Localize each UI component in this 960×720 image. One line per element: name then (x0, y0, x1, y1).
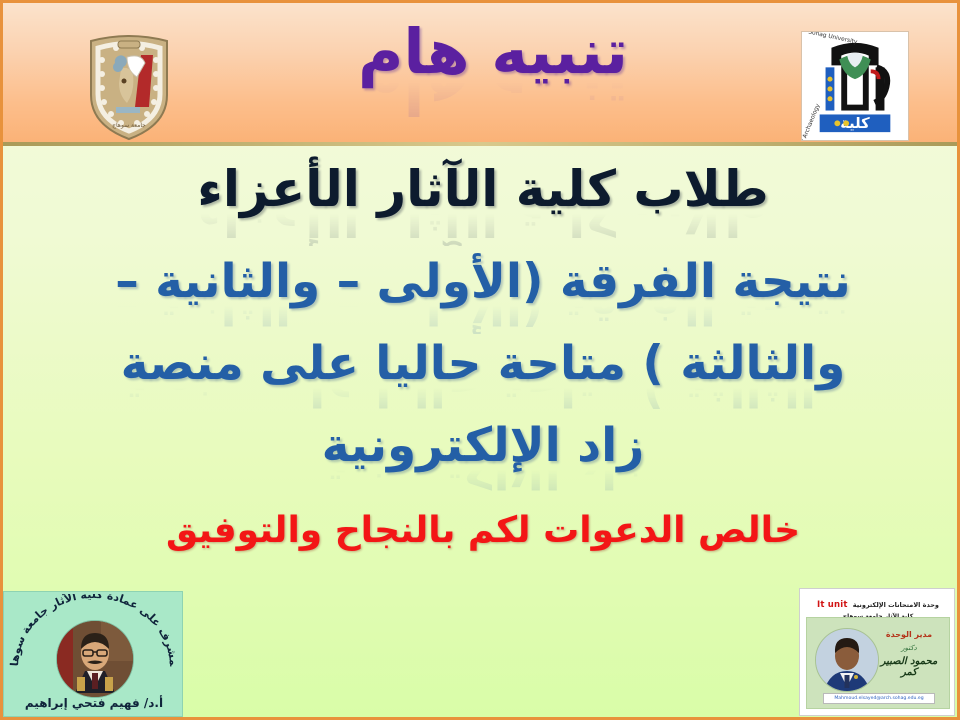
unit-manager-name: محمود الصبير كمر (873, 656, 945, 678)
result-line-1: نتيجة الفرقة (الأولى – والثانية – (3, 254, 960, 309)
faculty-of-archaeology-logo-icon: كلية Faculty of Archaeology Sohag Univer… (801, 31, 909, 141)
svg-text:جامعة سوهاج: جامعة سوهاج (112, 122, 146, 129)
result-line-2-reflection: والثالثة ) متاحة حاليا على منصة (3, 386, 960, 416)
wishes-line: خالص الدعوات لكم بالنجاح والتوفيق (3, 510, 960, 551)
result-line-1-reflection: نتيجة الفرقة (الأولى – والثانية – (3, 304, 960, 334)
header-band: جامعة سوهاج تنبيه هام تنبيه هام (3, 3, 960, 146)
platform-name-line-reflection: زاد الإلكترونية (3, 468, 960, 498)
it-unit-green-panel: مدير الوحدة دكتور محمود الصبير كمر Mahmo… (806, 617, 950, 709)
announcement-slide: جامعة سوهاج تنبيه هام تنبيه هام (0, 0, 960, 720)
unit-manager-role: مدير الوحدة (875, 630, 943, 639)
it-unit-arabic-title: وحدة الامتحانات الإلكترونية (853, 601, 939, 609)
header-title-block: تنبيه هام تنبيه هام (333, 19, 653, 144)
supervisor-avatar (56, 620, 134, 698)
sohag-university-shield-icon: جامعة سوهاج (83, 29, 175, 141)
greeting-line-reflection: طلاب كلية الآثار الأعزاء (3, 212, 960, 246)
unit-manager-title: دكتور (875, 644, 943, 652)
header-title: تنبيه هام (333, 19, 653, 86)
it-unit-english-title: It unit (817, 600, 848, 610)
supervisor-badge: المشرف على عمادة كلية الآثار جامعة سوهاج (3, 591, 183, 717)
unit-manager-avatar (815, 628, 879, 692)
platform-name-line: زاد الإلكترونية (3, 418, 960, 473)
unit-manager-email[interactable]: Mahmoud.elsayed@arch.sohag.edu.eg (823, 693, 935, 704)
supervisor-name: أ.د/ فهيم فتحي إبراهيم (4, 696, 183, 710)
it-unit-card: وحدة الامتحانات الإلكترونية It unit كلية… (799, 588, 955, 716)
greeting-line: طلاب كلية الآثار الأعزاء (3, 160, 960, 218)
header-title-reflection: تنبيه هام (333, 78, 653, 124)
result-line-2: والثالثة ) متاحة حاليا على منصة (3, 336, 960, 391)
